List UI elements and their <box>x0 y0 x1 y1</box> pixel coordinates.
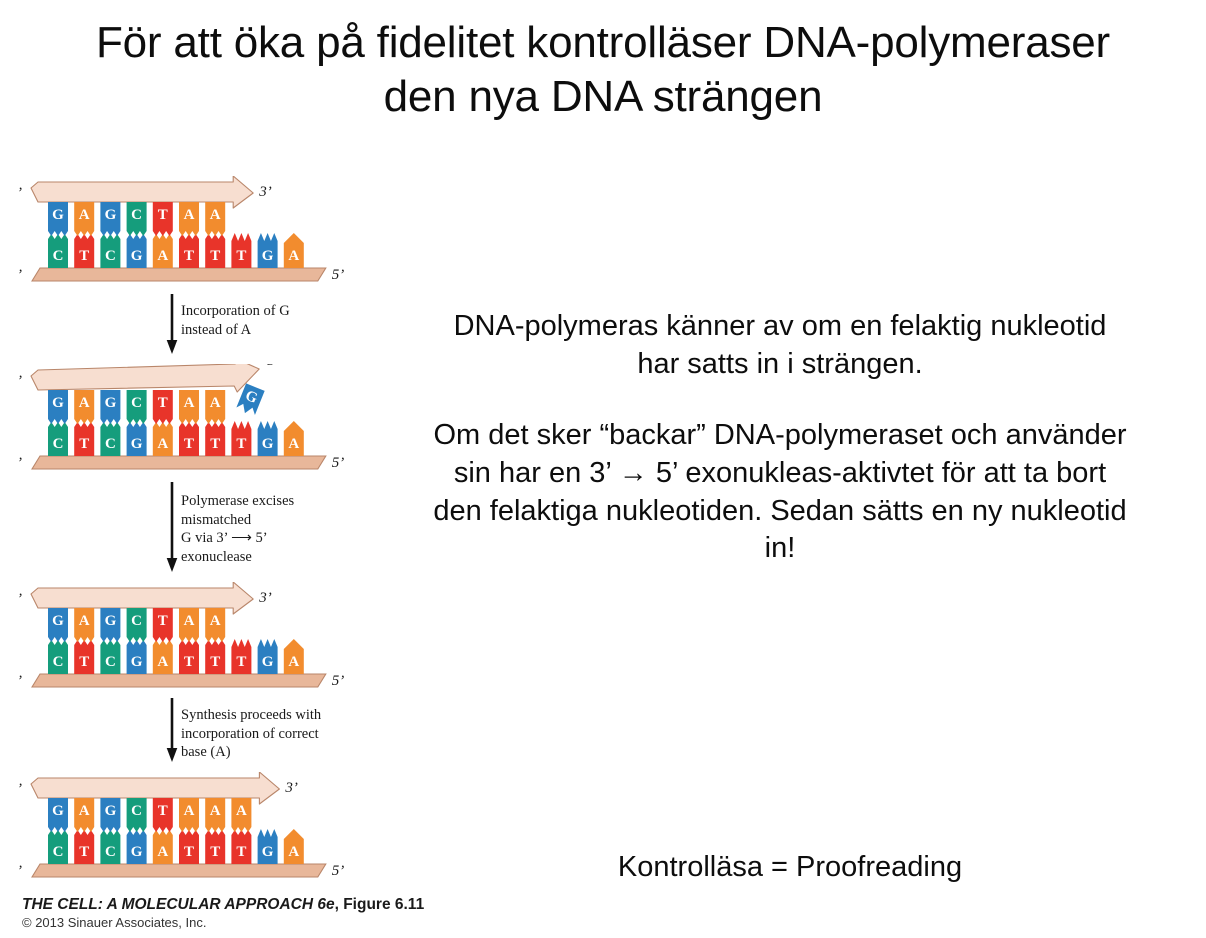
dna-panel-svg: CTCGATTTGAGAGCTAAA5’3’3’5’ <box>18 772 358 890</box>
svg-text:G: G <box>52 395 64 411</box>
svg-text:C: C <box>53 436 64 452</box>
svg-text:G: G <box>262 844 274 860</box>
svg-text:5’: 5’ <box>332 267 345 283</box>
svg-text:5’: 5’ <box>18 185 22 201</box>
svg-text:5’: 5’ <box>332 863 345 879</box>
step-arrow-2 <box>166 482 180 574</box>
svg-text:A: A <box>288 844 299 860</box>
svg-text:5’: 5’ <box>332 455 345 471</box>
svg-text:3’: 3’ <box>284 780 298 796</box>
paragraph-1: DNA-polymeras känner av om en felaktig n… <box>430 308 1130 383</box>
dna-panel-excised: CTCGATTTGAGAGCTAA5’3’3’5’ <box>18 582 358 700</box>
svg-text:T: T <box>158 613 168 629</box>
dna-panel-mismatch: CTCGATTTGAGAGCTAAG5’3’3’5’ <box>18 364 358 482</box>
svg-text:5’: 5’ <box>18 781 22 797</box>
svg-text:C: C <box>53 248 64 264</box>
svg-text:T: T <box>184 436 194 452</box>
svg-text:A: A <box>79 207 90 223</box>
svg-text:G: G <box>131 844 143 860</box>
svg-text:T: T <box>236 248 246 264</box>
svg-text:A: A <box>288 248 299 264</box>
svg-text:A: A <box>184 613 195 629</box>
credit-line-2: © 2013 Sinauer Associates, Inc. <box>22 915 452 930</box>
svg-text:A: A <box>184 207 195 223</box>
svg-text:3’: 3’ <box>258 184 272 200</box>
svg-text:C: C <box>131 613 142 629</box>
svg-text:A: A <box>157 436 168 452</box>
svg-text:G: G <box>131 436 143 452</box>
step-label-1: Incorporation of G instead of A <box>181 302 290 339</box>
svg-text:G: G <box>105 803 117 819</box>
figure-credit: THE CELL: A MOLECULAR APPROACH 6e, Figur… <box>22 896 452 931</box>
svg-text:3’: 3’ <box>18 267 22 283</box>
svg-text:G: G <box>105 207 117 223</box>
svg-text:3’: 3’ <box>258 590 272 606</box>
svg-text:A: A <box>184 395 195 411</box>
svg-text:T: T <box>184 844 194 860</box>
dna-panel-repaired: CTCGATTTGAGAGCTAAA5’3’3’5’ <box>18 772 358 890</box>
svg-text:C: C <box>105 436 116 452</box>
dna-panel-svg: CTCGATTTGAGAGCTAA5’3’3’5’ <box>18 582 358 700</box>
svg-text:G: G <box>52 613 64 629</box>
svg-text:G: G <box>105 613 117 629</box>
svg-text:A: A <box>79 803 90 819</box>
svg-text:A: A <box>157 654 168 670</box>
svg-text:A: A <box>157 844 168 860</box>
svg-text:A: A <box>79 613 90 629</box>
svg-text:T: T <box>158 803 168 819</box>
svg-text:G: G <box>262 436 274 452</box>
svg-text:3’: 3’ <box>18 673 22 689</box>
svg-text:C: C <box>105 248 116 264</box>
proofreading-note: Kontrolläsa = Proofreading <box>430 851 1150 884</box>
svg-text:C: C <box>53 844 64 860</box>
dna-panel-svg: CTCGATTTGAGAGCTAA5’3’3’5’ <box>18 176 358 294</box>
svg-text:A: A <box>288 436 299 452</box>
svg-text:A: A <box>157 248 168 264</box>
svg-text:T: T <box>158 207 168 223</box>
credit-figure-number: , Figure 6.11 <box>335 896 425 913</box>
svg-text:G: G <box>131 654 143 670</box>
svg-text:C: C <box>131 395 142 411</box>
svg-text:T: T <box>236 654 246 670</box>
svg-text:T: T <box>236 436 246 452</box>
svg-text:T: T <box>210 248 220 264</box>
step-label-2: Polymerase excises mismatched G via 3’ ⟶… <box>181 492 294 566</box>
svg-text:C: C <box>105 844 116 860</box>
svg-text:5’: 5’ <box>18 591 22 607</box>
svg-text:T: T <box>79 654 89 670</box>
svg-text:T: T <box>184 654 194 670</box>
credit-book-title: THE CELL: A MOLECULAR APPROACH 6e <box>22 896 335 913</box>
svg-text:C: C <box>53 654 64 670</box>
svg-text:A: A <box>210 803 221 819</box>
svg-text:A: A <box>210 207 221 223</box>
svg-text:T: T <box>184 248 194 264</box>
svg-text:A: A <box>288 654 299 670</box>
svg-text:5’: 5’ <box>18 373 22 389</box>
svg-text:T: T <box>158 395 168 411</box>
svg-text:C: C <box>131 207 142 223</box>
svg-text:3’: 3’ <box>18 863 22 879</box>
body-text: DNA-polymeras känner av om en felaktig n… <box>430 308 1130 568</box>
svg-text:G: G <box>262 248 274 264</box>
slide: För att öka på fidelitet kontrolläser DN… <box>0 0 1206 938</box>
svg-text:G: G <box>105 395 117 411</box>
step-label-3: Synthesis proceeds with incorporation of… <box>181 706 321 762</box>
svg-text:T: T <box>210 844 220 860</box>
svg-text:T: T <box>79 844 89 860</box>
svg-text:A: A <box>210 613 221 629</box>
svg-text:G: G <box>52 803 64 819</box>
svg-text:T: T <box>210 654 220 670</box>
svg-text:T: T <box>236 844 246 860</box>
svg-text:C: C <box>131 803 142 819</box>
dna-panel-initial: CTCGATTTGAGAGCTAA5’3’3’5’ <box>18 176 358 294</box>
page-title: För att öka på fidelitet kontrolläser DN… <box>60 16 1146 123</box>
dna-proofreading-figure: CTCGATTTGAGAGCTAA5’3’3’5’ Incorporation … <box>18 176 358 888</box>
paragraph-2: Om det sker “backar” DNA-polymeraset och… <box>430 417 1130 568</box>
svg-text:5’: 5’ <box>332 673 345 689</box>
svg-text:A: A <box>210 395 221 411</box>
svg-text:T: T <box>210 436 220 452</box>
svg-text:C: C <box>105 654 116 670</box>
svg-text:G: G <box>52 207 64 223</box>
svg-text:3’: 3’ <box>266 364 280 369</box>
svg-text:A: A <box>184 803 195 819</box>
step-arrow-3 <box>166 698 180 764</box>
svg-text:A: A <box>236 803 247 819</box>
credit-line-1: THE CELL: A MOLECULAR APPROACH 6e, Figur… <box>22 896 452 914</box>
svg-text:A: A <box>79 395 90 411</box>
svg-text:G: G <box>262 654 274 670</box>
svg-text:3’: 3’ <box>18 455 22 471</box>
step-arrow-1 <box>166 294 180 356</box>
dna-panel-svg: CTCGATTTGAGAGCTAAG5’3’3’5’ <box>18 364 358 489</box>
svg-text:G: G <box>131 248 143 264</box>
svg-text:T: T <box>79 436 89 452</box>
svg-text:T: T <box>79 248 89 264</box>
